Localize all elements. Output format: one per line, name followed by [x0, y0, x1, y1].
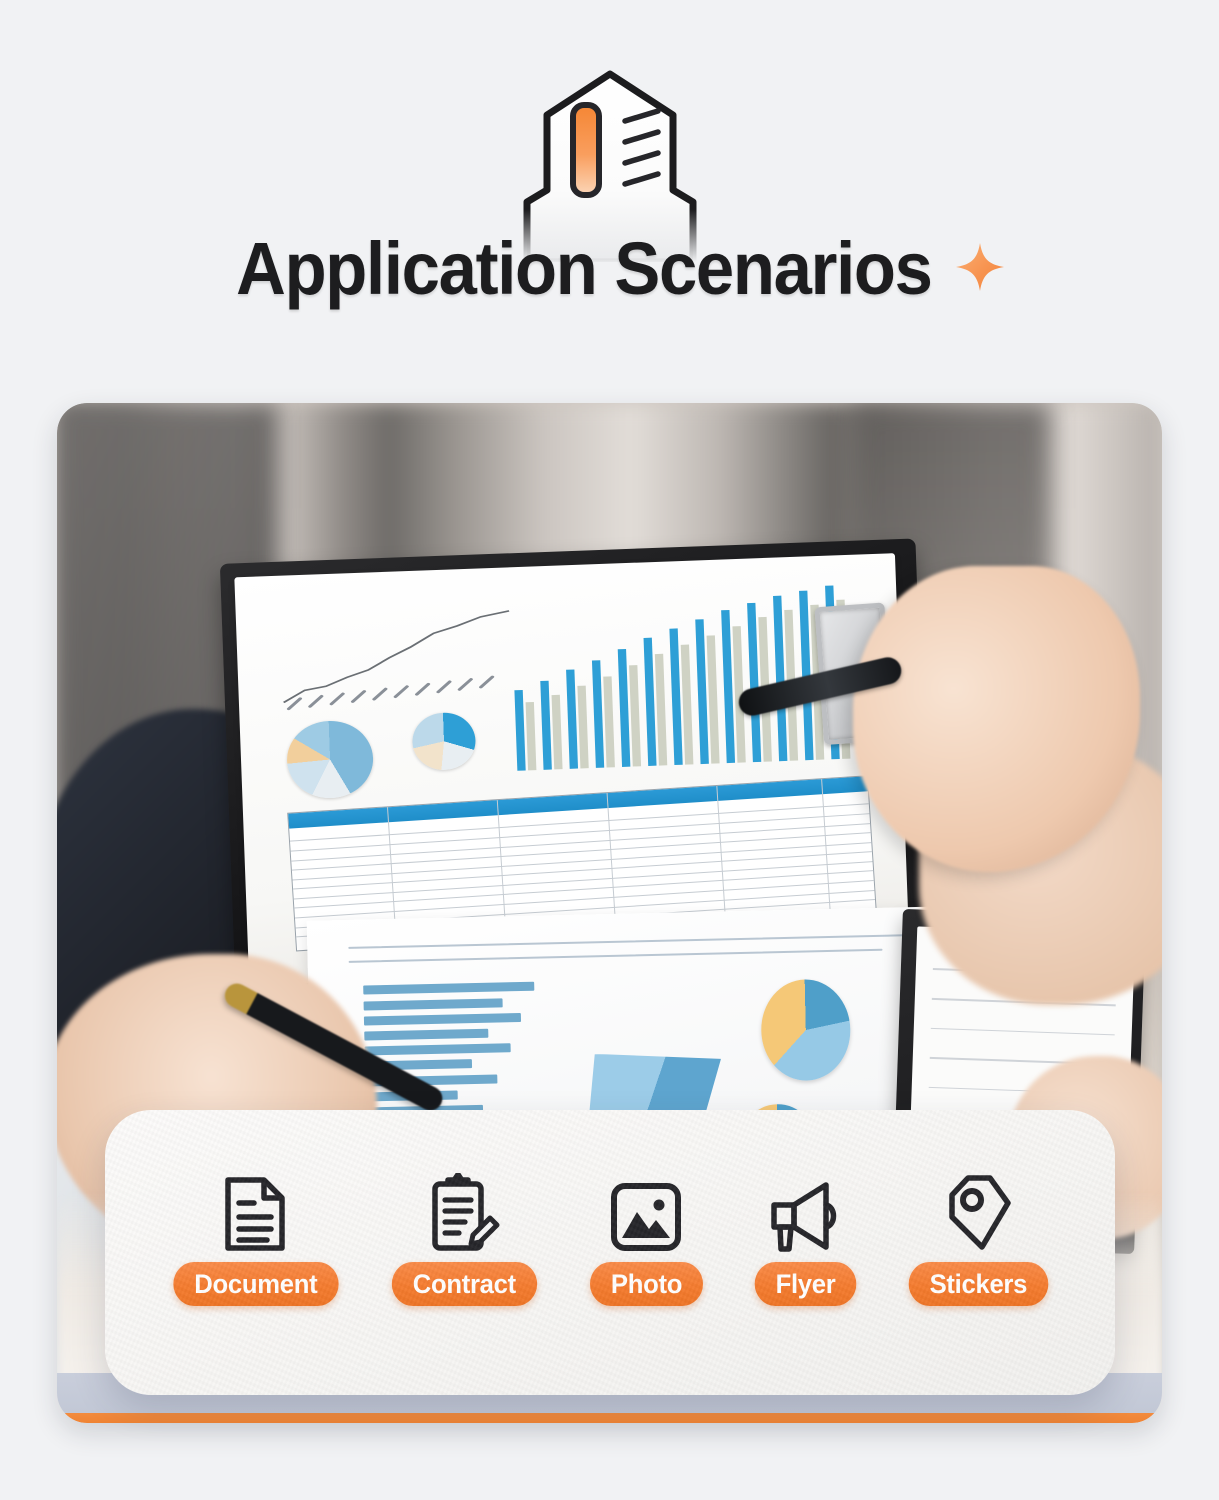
- scenario-item-document[interactable]: Document: [169, 1165, 343, 1306]
- page-title: Application Scenarios: [236, 232, 931, 306]
- scenario-panel: Document: [105, 1110, 1115, 1395]
- card-accent-bar: [57, 1413, 1162, 1423]
- scenario-label[interactable]: Stickers: [908, 1262, 1047, 1306]
- clipboard-pencil-icon: [428, 1165, 500, 1253]
- scenario-item-contract[interactable]: Contract: [388, 1165, 541, 1306]
- price-tag-icon: [942, 1165, 1014, 1253]
- scenario-item-photo[interactable]: Photo: [587, 1165, 706, 1306]
- scenario-label[interactable]: Photo: [590, 1262, 703, 1306]
- scenario-list: Document: [105, 1165, 1115, 1306]
- megaphone-icon: [766, 1165, 844, 1253]
- scenario-label[interactable]: Contract: [392, 1262, 537, 1306]
- scenario-item-flyer[interactable]: Flyer: [752, 1165, 859, 1306]
- scenario-label[interactable]: Document: [173, 1262, 338, 1306]
- header: Application Scenarios: [0, 0, 1219, 395]
- document-icon: [222, 1165, 288, 1253]
- scenario-item-stickers[interactable]: Stickers: [905, 1165, 1052, 1306]
- image-icon: [609, 1165, 683, 1253]
- scenario-label[interactable]: Flyer: [754, 1262, 856, 1306]
- sparkle-icon: [951, 238, 1009, 301]
- title-row: Application Scenarios: [0, 232, 1219, 306]
- page-root: Application Scenarios: [0, 0, 1219, 1500]
